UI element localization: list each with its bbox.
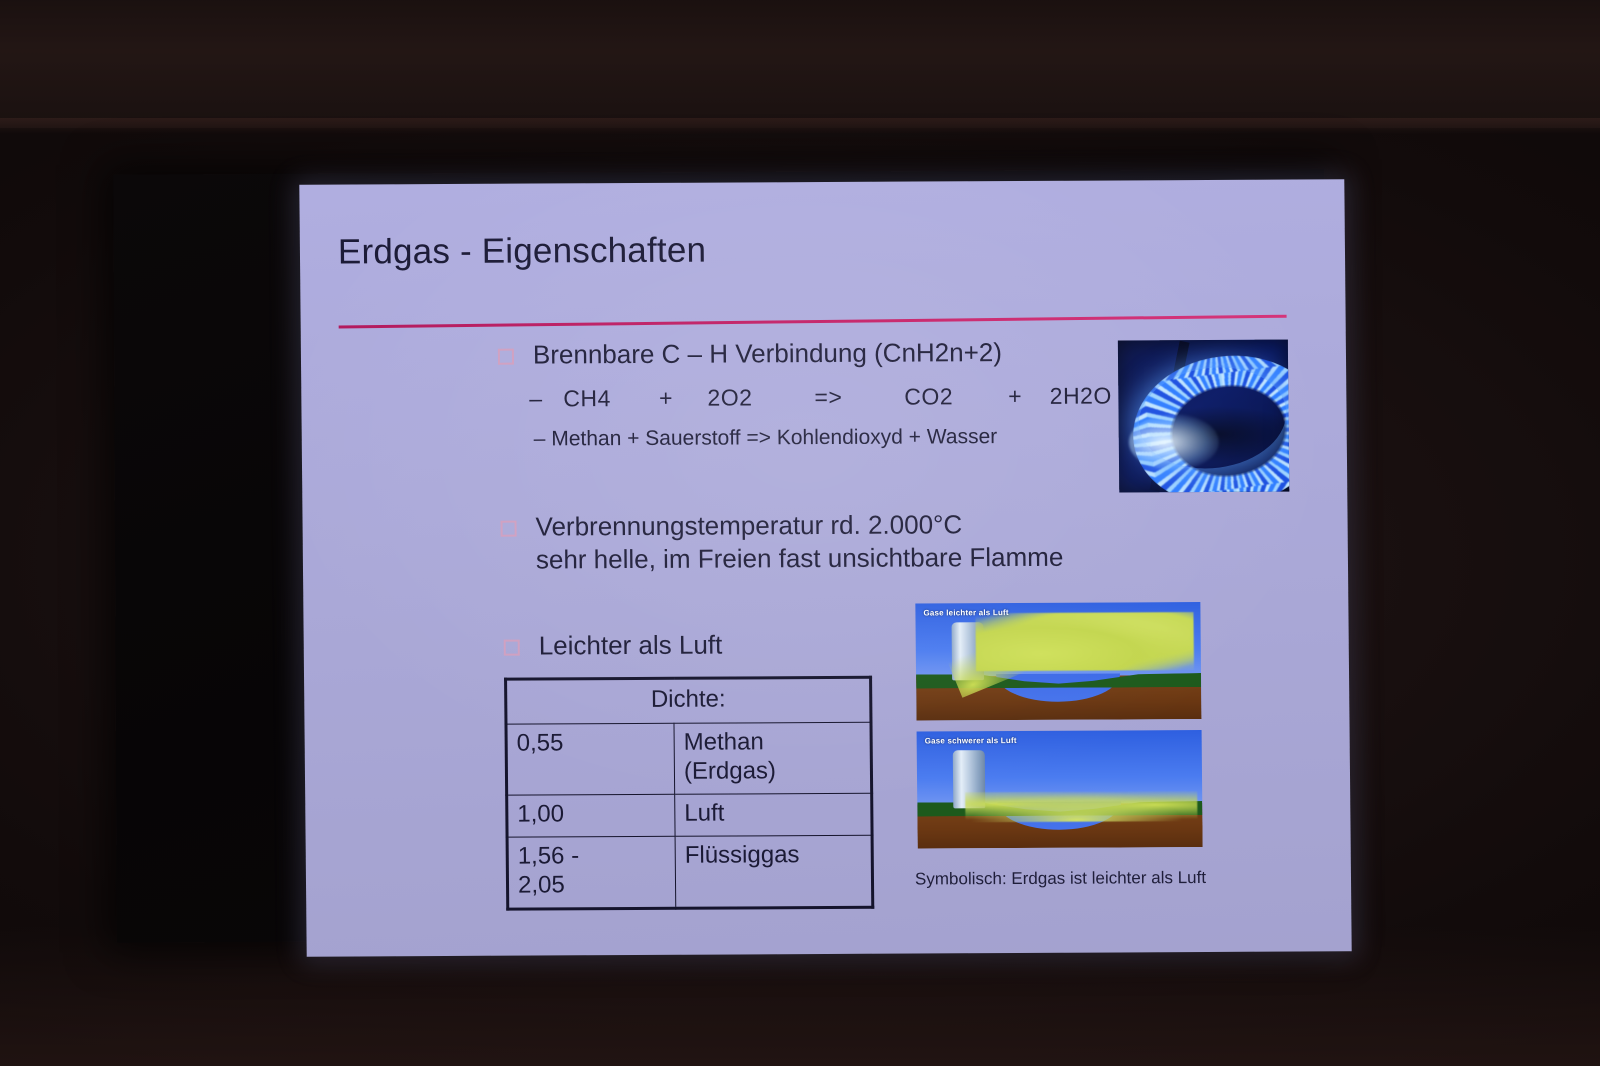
flame-hotspot bbox=[1129, 414, 1220, 470]
projected-slide-wrapper: Erdgas - Eigenschaften Brennbare C – H V… bbox=[299, 179, 1351, 956]
gas-cloud-rising bbox=[975, 612, 1194, 671]
panel-lighter-than-air: Gase leichter als Luft bbox=[915, 602, 1201, 720]
panel-label-bottom: Gase schwerer als Luft bbox=[925, 736, 1017, 745]
table-cell-label: Flüssiggas bbox=[675, 836, 873, 909]
table-cell-label: Luft bbox=[675, 793, 872, 836]
slide-title: Erdgas - Eigenschaften bbox=[338, 231, 707, 273]
table-row: 1,56 - 2,05 Flüssiggas bbox=[507, 836, 873, 910]
gas-burner-flame-photo bbox=[1118, 340, 1289, 493]
panel-heavier-than-air: Gase schwerer als Luft bbox=[917, 730, 1203, 848]
bullet-text: Leichter als Luft bbox=[539, 629, 723, 663]
gas-diagram-caption: Symbolisch: Erdgas ist leichter als Luft bbox=[915, 868, 1206, 890]
table-row: 0,55 Methan (Erdgas) bbox=[506, 723, 872, 796]
bullet-item-brennbare: Brennbare C – H Verbindung (CnH2n+2) bbox=[498, 336, 1002, 372]
gas-density-illustration: Gase leichter als Luft Gase schwerer als… bbox=[915, 602, 1202, 853]
bullet-text: Verbrennungstemperatur rd. 2.000°C sehr … bbox=[535, 508, 1063, 577]
wall-edge-highlight bbox=[0, 118, 1600, 134]
table-cell-value: 0,55 bbox=[506, 724, 675, 796]
bullet-square-icon bbox=[501, 521, 517, 537]
bullet-square-icon bbox=[498, 349, 514, 365]
presentation-slide: Erdgas - Eigenschaften Brennbare C – H V… bbox=[299, 179, 1351, 956]
bullet-square-icon bbox=[504, 640, 520, 656]
density-table: Dichte: 0,55 Methan (Erdgas) 1,00 Luft 1… bbox=[504, 676, 874, 911]
bullet-item-verbrennungstemperatur: Verbrennungstemperatur rd. 2.000°C sehr … bbox=[500, 508, 1063, 577]
bullet-item-leichter-als-luft: Leichter als Luft bbox=[504, 629, 723, 663]
bullet-text: Brennbare C – H Verbindung (CnH2n+2) bbox=[533, 336, 1002, 372]
table-row: 1,00 Luft bbox=[507, 793, 872, 837]
sub-bullet-equation-words: – Methan + Sauerstoff => Kohlendioxyd + … bbox=[534, 425, 998, 451]
panel-label-top: Gase leichter als Luft bbox=[923, 608, 1008, 617]
title-divider-rule bbox=[339, 315, 1287, 329]
table-header-dichte: Dichte: bbox=[506, 677, 871, 724]
table-cell-value: 1,00 bbox=[507, 794, 675, 837]
sub-bullet-equation-formula: – CH4 + 2O2 => CO2 + 2H2O bbox=[529, 383, 1112, 413]
wall-upper-band bbox=[0, 0, 1600, 128]
gas-cloud-settling bbox=[965, 791, 1197, 822]
table-cell-label: Methan (Erdgas) bbox=[674, 723, 872, 795]
table-row-header: Dichte: bbox=[506, 677, 871, 724]
table-cell-value: 1,56 - 2,05 bbox=[507, 837, 676, 910]
